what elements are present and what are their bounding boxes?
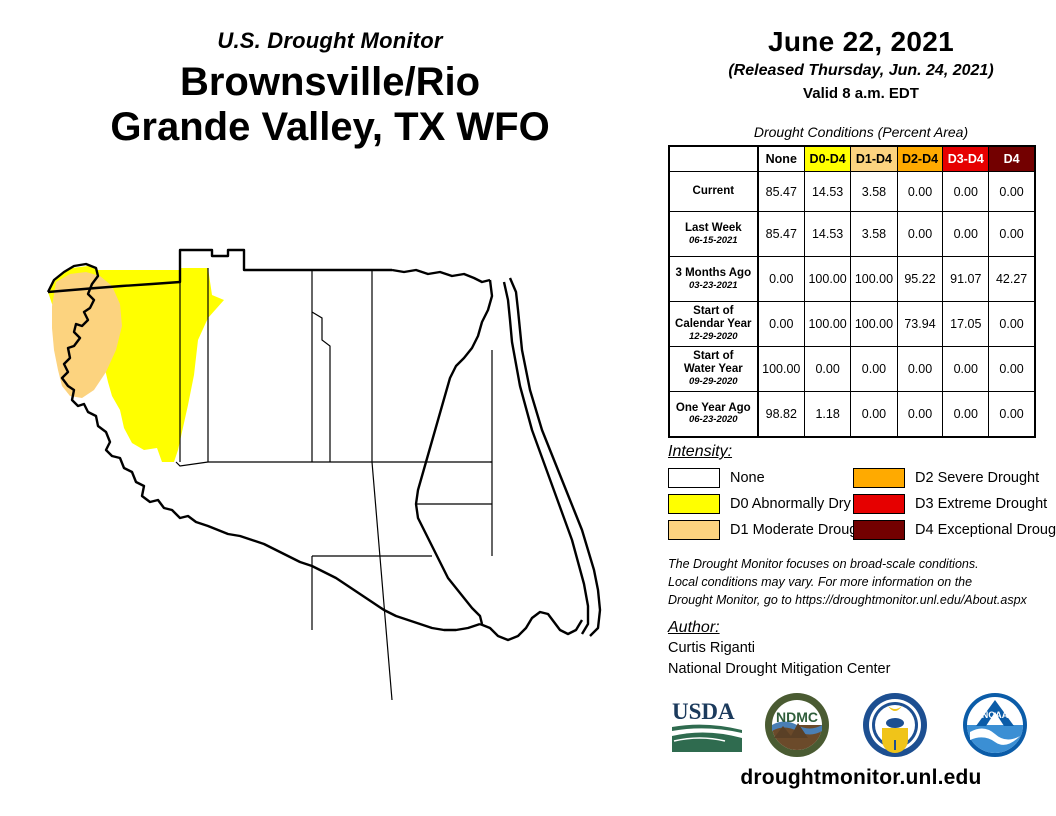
table-row-label: 3 Months Ago03-23-2021 [669,257,758,302]
table-cell-value: 14.53 [804,172,850,212]
table-cell-value: 0.00 [897,392,943,437]
table-cell-value: 95.22 [897,257,943,302]
table-cell-value: 0.00 [851,392,897,437]
table-row-date: 06-15-2021 [670,236,757,247]
table-cell-value: 1.18 [804,392,850,437]
table-cell-value: 0.00 [758,257,805,302]
table-cell-value: 0.00 [989,212,1035,257]
unl-seal-logo [862,692,928,763]
table-cell-value: 0.00 [851,347,897,392]
table-cell-value: 100.00 [804,257,850,302]
disclaimer-line-1: The Drought Monitor focuses on broad-sca… [668,556,1048,574]
legend-label: D0 Abnormally Dry [730,496,851,512]
valid-time: Valid 8 a.m. EDT [666,85,1056,102]
table-row-label: Current [669,172,758,212]
table-column-header-d2-d4: D2-D4 [897,146,943,172]
table-cell-value: 73.94 [897,302,943,347]
table-corner-cell [669,146,758,172]
table-cell-value: 100.00 [804,302,850,347]
table-row: Last Week06-15-202185.4714.533.580.000.0… [669,212,1035,257]
disclaimer-text: The Drought Monitor focuses on broad-sca… [668,556,1048,609]
agency-logos: USDA NDMC [666,692,1056,758]
table-row-label: Start ofCalendar Year12-29-2020 [669,302,758,347]
table-cell-value: 85.47 [758,172,805,212]
table-cell-value: 0.00 [943,392,989,437]
table-row-date: 12-29-2020 [670,332,757,343]
page-title-line2: Grande Valley, TX WFO [0,105,660,150]
author-block: Curtis Riganti National Drought Mitigati… [668,638,890,680]
table-row: 3 Months Ago03-23-20210.00100.00100.0095… [669,257,1035,302]
table-cell-value: 0.00 [897,212,943,257]
table-row: One Year Ago06-23-202098.821.180.000.000… [669,392,1035,437]
svg-text:NOAA: NOAA [982,710,1009,720]
svg-text:NDMC: NDMC [776,709,818,725]
legend-item: D4 Exceptional Drought [853,518,1056,542]
author-name: Curtis Riganti [668,638,890,659]
table-row-label: Last Week06-15-2021 [669,212,758,257]
table-cell-value: 14.53 [804,212,850,257]
table-row-date: 06-23-2020 [670,415,757,426]
table-cell-value: 0.00 [989,392,1035,437]
table-row: Start ofWater Year09-29-2020100.000.000.… [669,347,1035,392]
table-header-row: NoneD0-D4D1-D4D2-D4D3-D4D4 [669,146,1035,172]
legend-label: D3 Extreme Drought [915,496,1047,512]
table-cell-value: 0.00 [989,347,1035,392]
table-cell-value: 98.82 [758,392,805,437]
ndmc-logo: NDMC [764,692,830,763]
table-cell-value: 0.00 [943,347,989,392]
table-cell-value: 0.00 [897,172,943,212]
legend-column-right: D2 Severe DroughtD3 Extreme DroughtD4 Ex… [853,466,1056,544]
legend-swatch [668,520,720,540]
table-column-header-d0-d4: D0-D4 [804,146,850,172]
legend-swatch [668,468,720,488]
disclaimer-line-3: Drought Monitor, go to https://droughtmo… [668,592,1048,610]
table-row: Start ofCalendar Year12-29-20200.00100.0… [669,302,1035,347]
table-cell-value: 3.58 [851,172,897,212]
legend-item: D0 Abnormally Dry [668,492,869,516]
table-cell-value: 100.00 [851,257,897,302]
table-cell-value: 0.00 [989,302,1035,347]
legend-label: D2 Severe Drought [915,470,1039,486]
table-cell-value: 91.07 [943,257,989,302]
table-column-header-d4: D4 [989,146,1035,172]
valid-date: June 22, 2021 [666,26,1056,58]
legend-label: D1 Moderate Drought [730,522,869,538]
legend-swatch [853,520,905,540]
table-column-header-d1-d4: D1-D4 [851,146,897,172]
page-title-line1: Brownsville/Rio [0,60,660,105]
author-organization: National Drought Mitigation Center [668,659,890,680]
table-cell-value: 0.00 [897,347,943,392]
legend-item: None [668,466,869,490]
table-cell-value: 0.00 [758,302,805,347]
drought-conditions-table: NoneD0-D4D1-D4D2-D4D3-D4D4 Current85.471… [668,145,1036,438]
noaa-logo: NOAA [962,692,1028,763]
table-column-header-none: None [758,146,805,172]
table-row-date: 09-29-2020 [670,377,757,388]
table-cell-value: 42.27 [989,257,1035,302]
table-cell-value: 3.58 [851,212,897,257]
table-cell-value: 0.00 [989,172,1035,212]
legend-label: D4 Exceptional Drought [915,522,1056,538]
table-cell-value: 0.00 [943,212,989,257]
product-subtitle: U.S. Drought Monitor [0,28,660,54]
legend-swatch [853,468,905,488]
map-title-block: U.S. Drought Monitor Brownsville/Rio Gra… [0,28,660,150]
table-row-date: 03-23-2021 [670,281,757,292]
disclaimer-line-2: Local conditions may vary. For more info… [668,574,1048,592]
table-cell-value: 0.00 [943,172,989,212]
release-date: (Released Thursday, Jun. 24, 2021) [666,62,1056,80]
drought-monitor-page: U.S. Drought Monitor Brownsville/Rio Gra… [0,0,1056,816]
table-body: Current85.4714.533.580.000.000.00Last We… [669,172,1035,437]
legend-label: None [730,470,765,486]
table-caption: Drought Conditions (Percent Area) [666,124,1056,140]
table-row-label: One Year Ago06-23-2020 [669,392,758,437]
table-cell-value: 85.47 [758,212,805,257]
table-cell-value: 0.00 [804,347,850,392]
table-column-header-d3-d4: D3-D4 [943,146,989,172]
legend-item: D3 Extreme Drought [853,492,1056,516]
intensity-heading: Intensity: [668,443,732,461]
drought-map [12,200,662,700]
date-header: June 22, 2021 (Released Thursday, Jun. 2… [666,26,1056,102]
table-cell-value: 17.05 [943,302,989,347]
svg-text:USDA: USDA [672,699,735,724]
website-url: droughtmonitor.unl.edu [666,766,1056,790]
legend-swatch [668,494,720,514]
table-cell-value: 100.00 [758,347,805,392]
legend-item: D2 Severe Drought [853,466,1056,490]
legend-column-left: NoneD0 Abnormally DryD1 Moderate Drought [668,466,869,544]
legend-item: D1 Moderate Drought [668,518,869,542]
usda-logo: USDA [670,697,744,758]
table-row-label: Start ofWater Year09-29-2020 [669,347,758,392]
table-cell-value: 100.00 [851,302,897,347]
author-heading: Author: [668,619,720,637]
table-row: Current85.4714.533.580.000.000.00 [669,172,1035,212]
legend-swatch [853,494,905,514]
